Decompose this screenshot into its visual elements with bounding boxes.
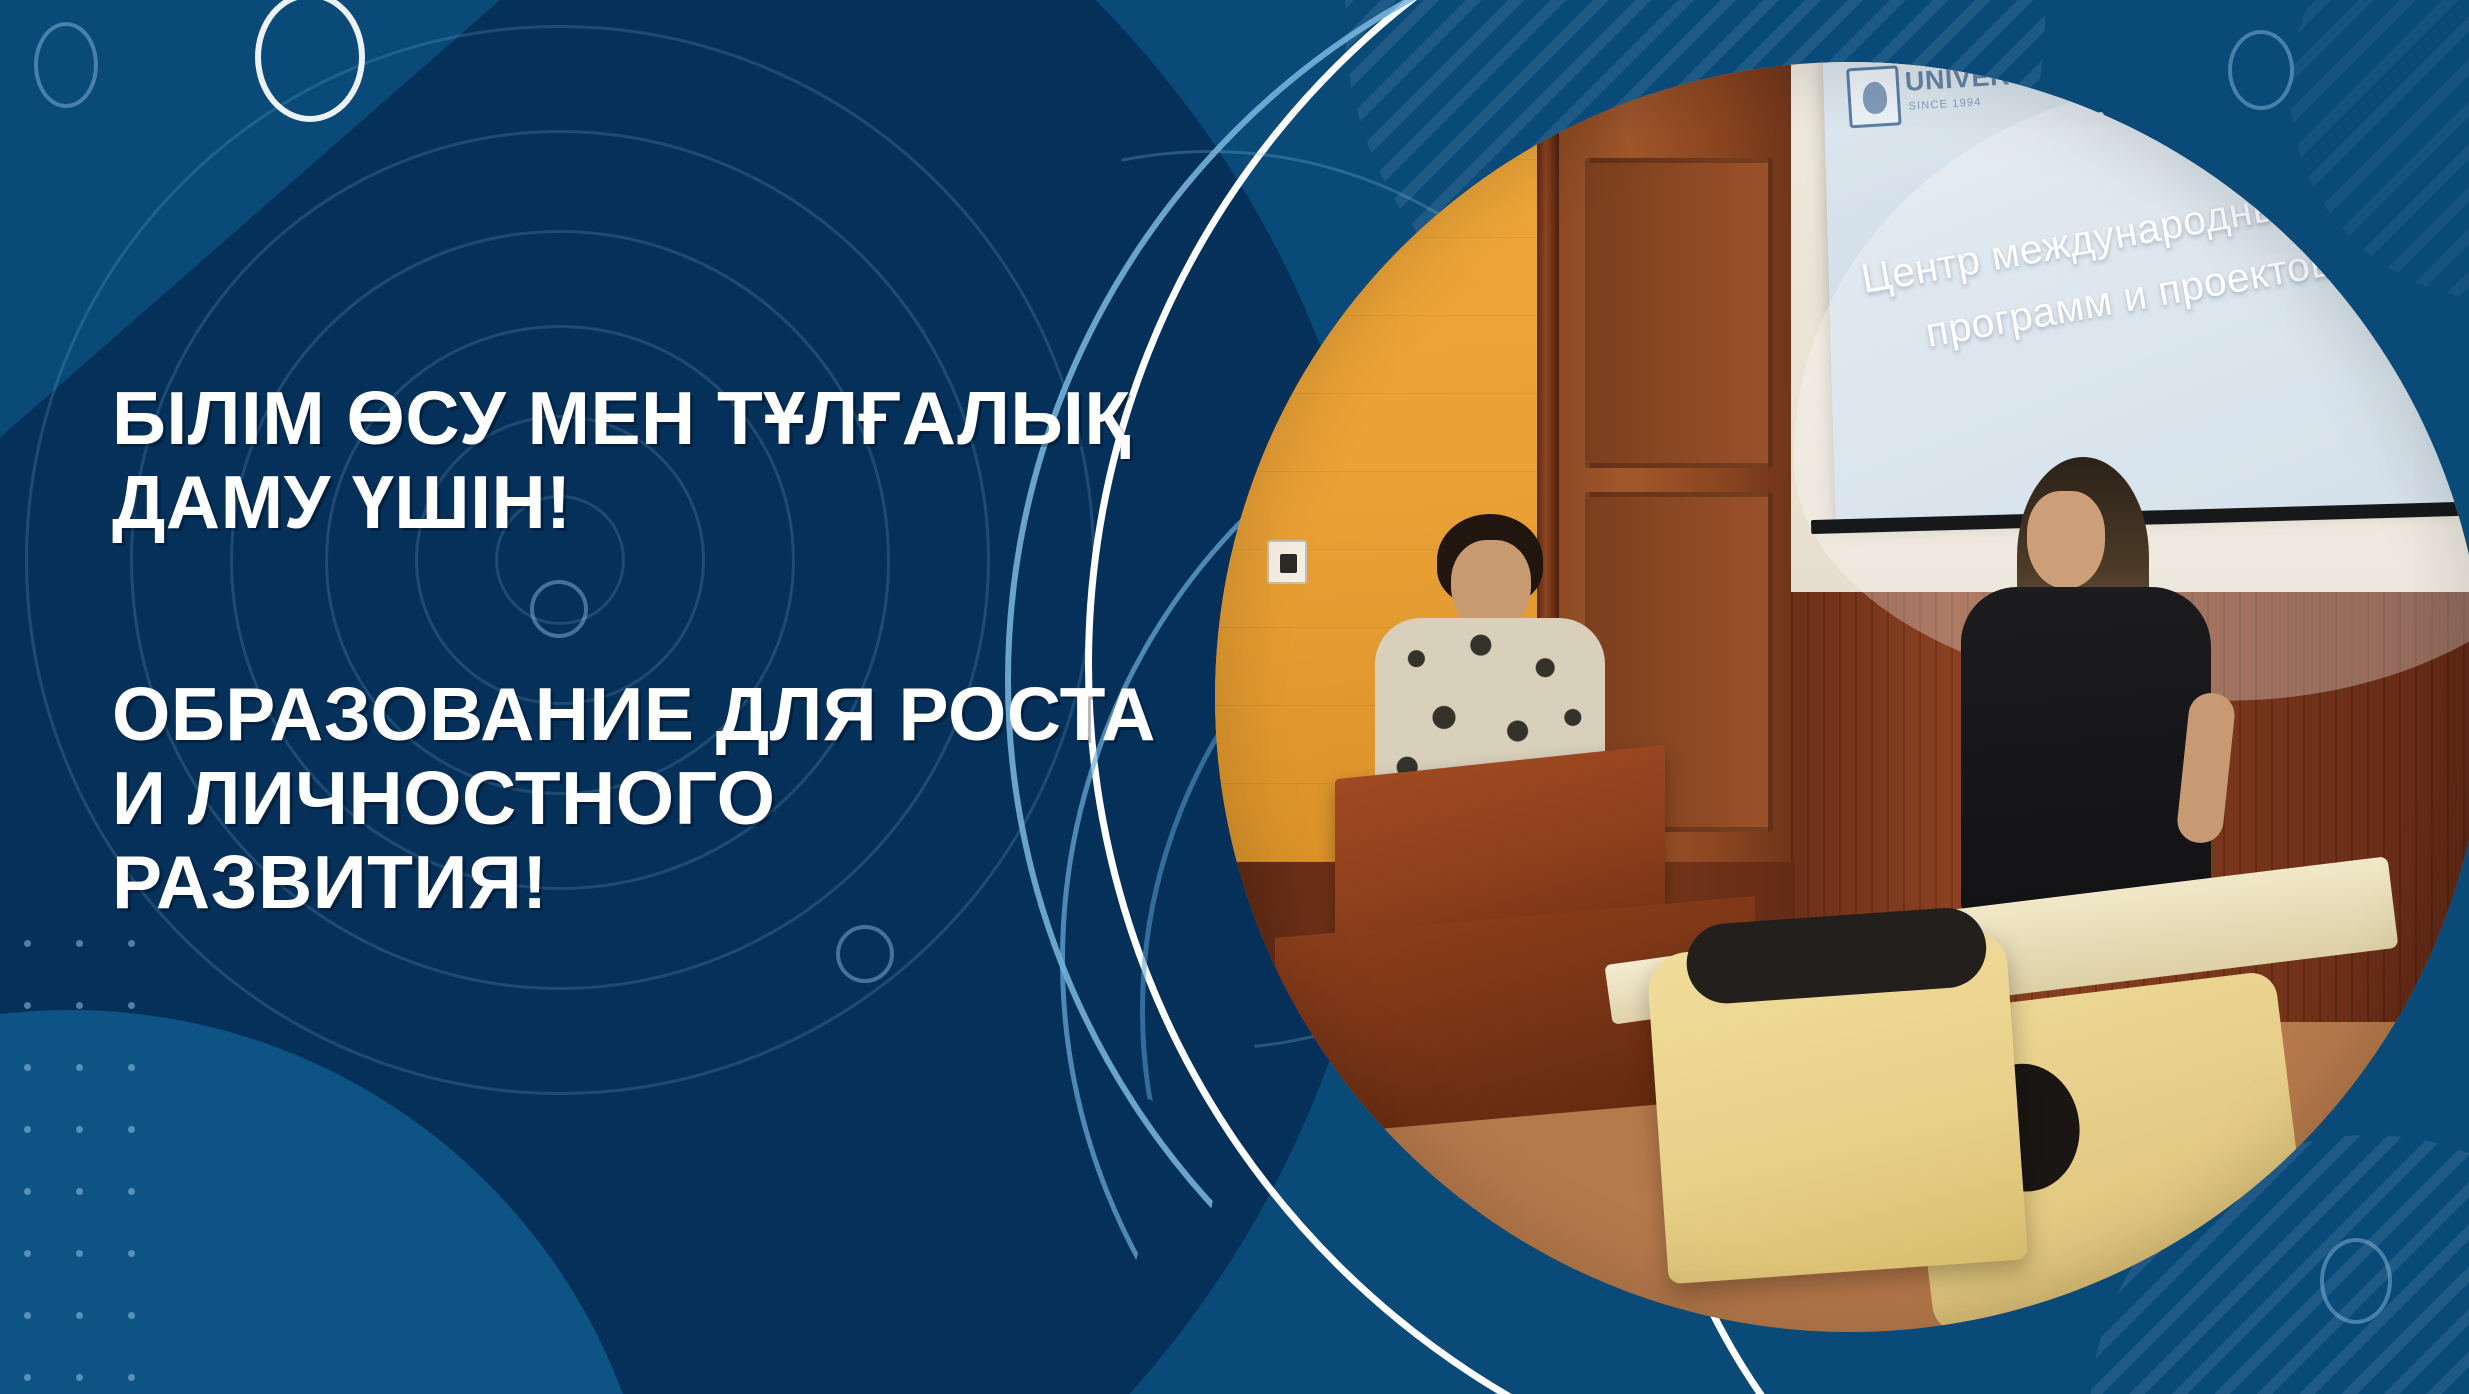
outline-circle-top-left bbox=[34, 22, 98, 108]
kazguu-crest-icon bbox=[1846, 65, 1902, 128]
event-photo: ШЫҒУ UNIVERSITY SINCE 1994 Центр междуна… bbox=[1215, 62, 2469, 1332]
logo-subtext: SINCE 1994 bbox=[1908, 96, 1982, 113]
photo-auditorium-seat-left bbox=[1646, 930, 2028, 1284]
headline-block: БІЛІМ ӨСУ МЕН ТҰЛҒАЛЫҚ ДАМУ ҮШІН! ОБРАЗО… bbox=[112, 376, 1172, 924]
outline-circle-lower-mid bbox=[836, 925, 894, 983]
photo-person-presenting bbox=[1955, 457, 2235, 917]
headline-kazakh: БІЛІМ ӨСУ МЕН ТҰЛҒАЛЫҚ ДАМУ ҮШІН! bbox=[112, 376, 1172, 544]
logo-wordmark: UNIVERSITY bbox=[1904, 62, 2073, 98]
banner-canvas: ШЫҒУ UNIVERSITY SINCE 1994 Центр междуна… bbox=[0, 0, 2469, 1394]
headline-russian: ОБРАЗОВАНИЕ ДЛЯ РОСТА И ЛИЧНОСТНОГО РАЗВ… bbox=[112, 672, 1172, 924]
photo-wall-switch-icon bbox=[1267, 540, 1307, 584]
presenter-black-shirt bbox=[1961, 587, 2211, 917]
kazguu-university-logo: UNIVERSITY SINCE 1994 bbox=[1846, 62, 2040, 132]
presenter-face bbox=[2027, 491, 2105, 589]
photo-projection-screen: UNIVERSITY SINCE 1994 Центр международны… bbox=[1823, 62, 2469, 522]
